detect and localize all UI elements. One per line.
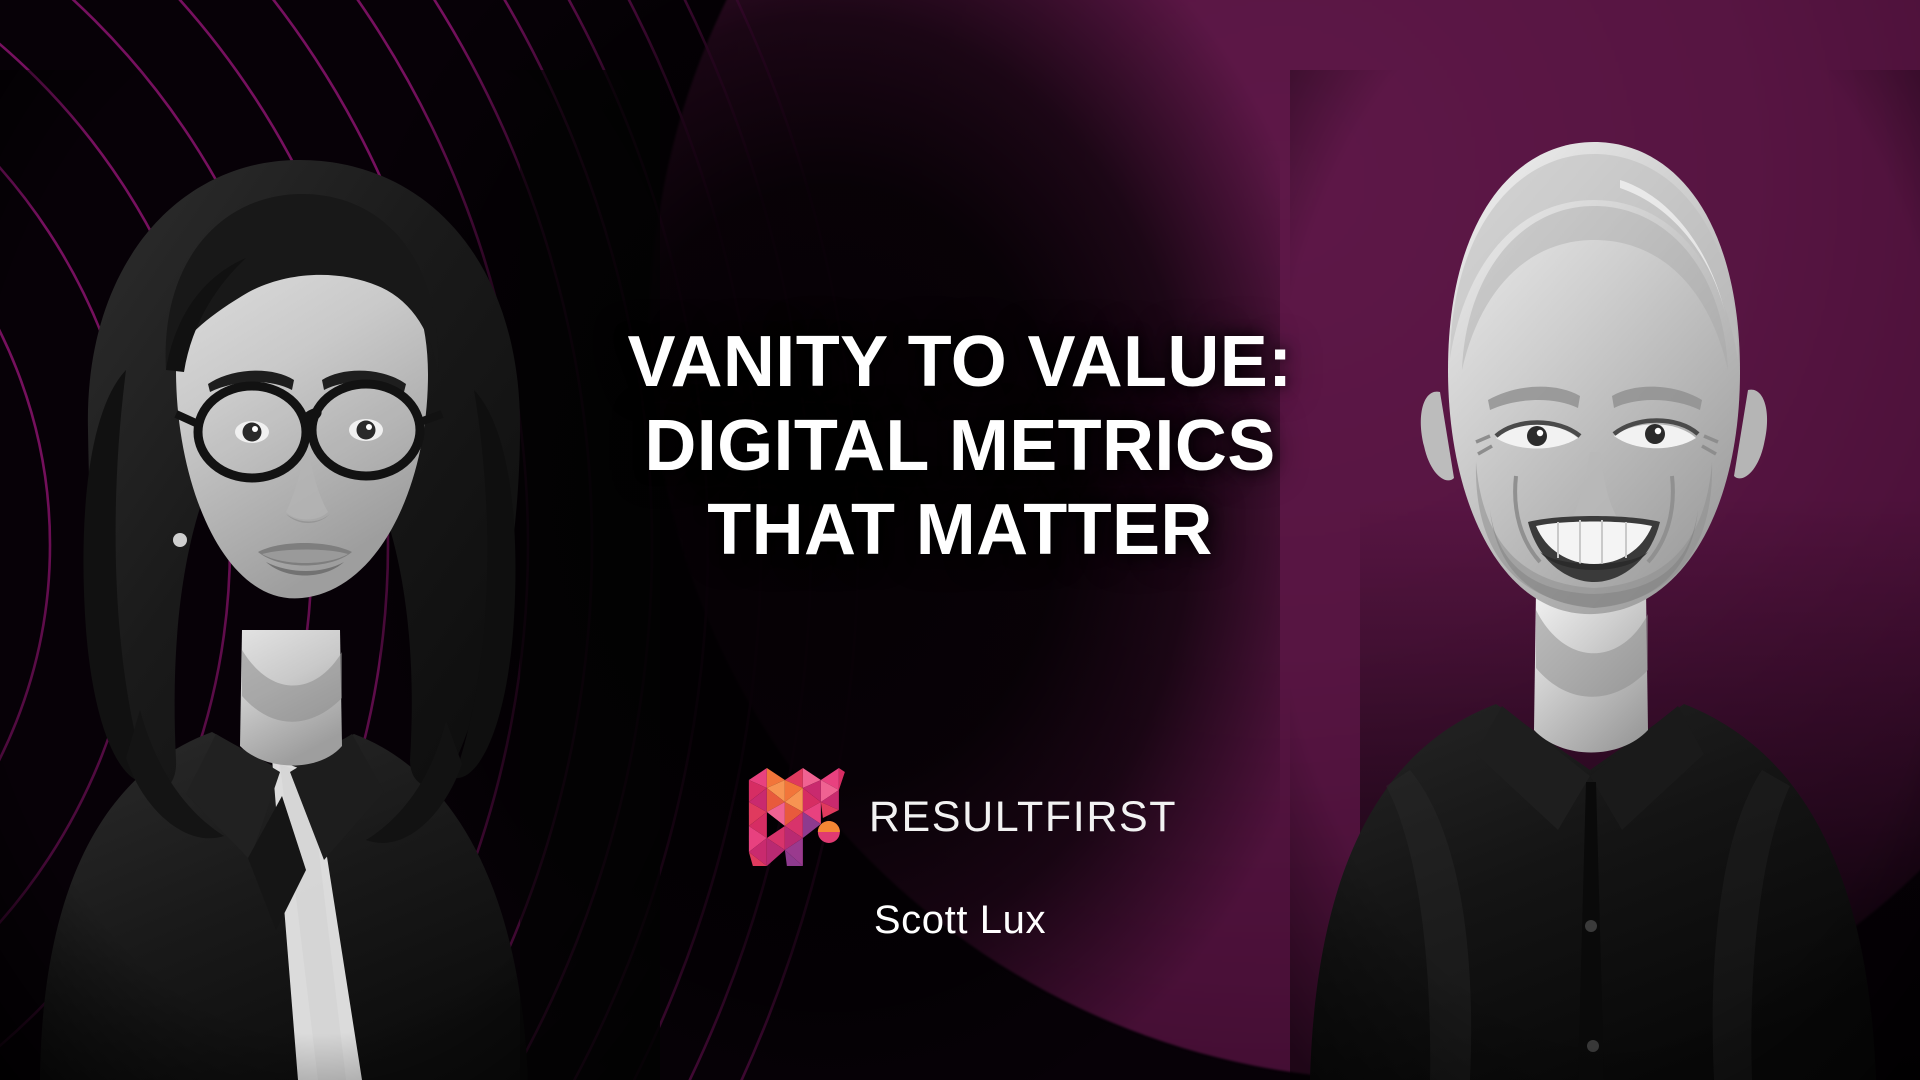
brand-wordmark: RESULTFIRST — [869, 796, 1177, 839]
brand-block: RESULTFIRST Scott Lux — [743, 762, 1177, 943]
resultfirst-m-logo-icon — [743, 762, 851, 872]
webinar-title-card: VANITY TO VALUE: DIGITAL METRICS THAT MA… — [0, 0, 1920, 1080]
brand-lockup: RESULTFIRST — [743, 762, 1177, 872]
speaker-photo-right — [1290, 70, 1920, 1080]
speaker-photo-left — [0, 70, 660, 1080]
speaker-name: Scott Lux — [743, 898, 1177, 943]
